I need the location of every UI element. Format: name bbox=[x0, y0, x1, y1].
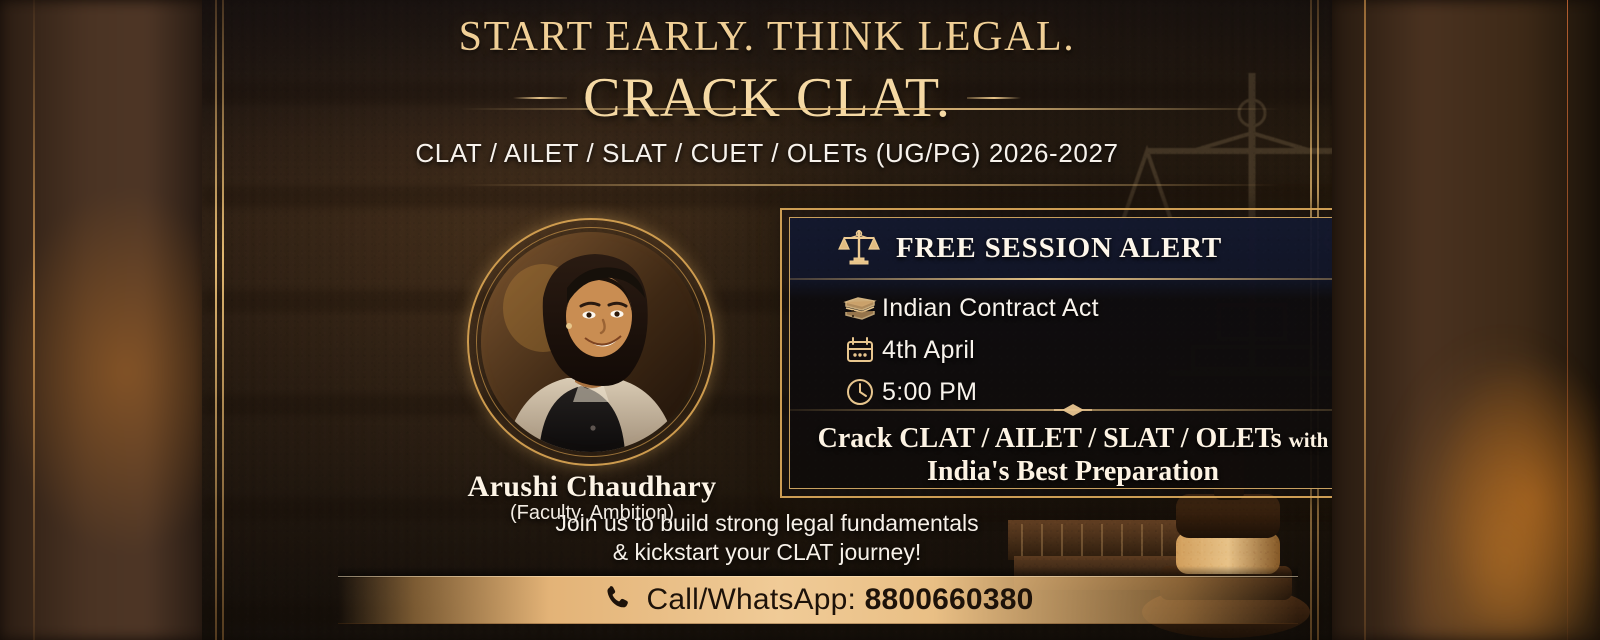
headline-dash-left bbox=[513, 97, 567, 99]
contact-label: Call/WhatsApp: bbox=[647, 583, 857, 616]
divider-below-subtitle bbox=[460, 184, 1280, 186]
headline-line-2: CRACK CLAT. bbox=[583, 70, 951, 126]
divider-above-subtitle bbox=[460, 108, 1280, 110]
scales-of-justice-icon bbox=[838, 227, 880, 270]
calendar-icon bbox=[838, 335, 882, 365]
alert-title: FREE SESSION ALERT bbox=[896, 232, 1222, 265]
right-warm-glow bbox=[1400, 330, 1600, 640]
session-detail-rows: Indian Contract Act bbox=[838, 288, 1099, 414]
promotional-banner: START EARLY. THINK LEGAL. CRACK CLAT. CL… bbox=[0, 0, 1600, 640]
diamond-divider-ornament-icon bbox=[1054, 403, 1092, 415]
detail-time-label: 5:00 PM bbox=[882, 378, 977, 407]
books-icon bbox=[838, 294, 882, 322]
join-copy-line-2: & kickstart your CLAT journey! bbox=[202, 539, 1332, 566]
contact-bar[interactable]: Call/WhatsApp: 8800660380 bbox=[338, 576, 1298, 624]
alert-header-row: FREE SESSION ALERT bbox=[790, 218, 1332, 278]
detail-row-date: 4th April bbox=[838, 330, 1099, 370]
detail-date-label: 4th April bbox=[882, 336, 975, 365]
tagline-line-1: Crack CLAT / AILET / SLAT / OLETs with bbox=[790, 423, 1332, 455]
free-session-info-box-inner: FREE SESSION ALERT bbox=[789, 217, 1332, 489]
faculty-name: Arushi Chaudhary bbox=[447, 470, 737, 504]
headline-dash-right bbox=[967, 97, 1021, 99]
left-background-extension bbox=[0, 0, 208, 640]
detail-row-subject: Indian Contract Act bbox=[838, 288, 1099, 328]
tagline-line-2: India's Best Preparation bbox=[790, 456, 1332, 488]
faculty-portrait-frame bbox=[467, 218, 715, 466]
portrait-ring-outer bbox=[467, 218, 715, 466]
join-copy-line-1: Join us to build strong legal fundamenta… bbox=[202, 510, 1332, 537]
tagline-main-suffix: with bbox=[1289, 428, 1329, 452]
exam-list-subtitle: CLAT / AILET / SLAT / CUET / OLETs (UG/P… bbox=[202, 138, 1332, 169]
headline-line-2-row: CRACK CLAT. bbox=[202, 70, 1332, 126]
contact-text: Call/WhatsApp: 8800660380 bbox=[647, 583, 1034, 617]
left-accent-line bbox=[33, 0, 35, 640]
detail-subject-label: Indian Contract Act bbox=[882, 294, 1099, 323]
right-accent-line-inner bbox=[1364, 0, 1366, 640]
phone-icon bbox=[603, 583, 633, 618]
banner-main-panel: START EARLY. THINK LEGAL. CRACK CLAT. CL… bbox=[202, 0, 1332, 640]
headline-line-1: START EARLY. THINK LEGAL. bbox=[202, 16, 1332, 58]
tagline-main-text: Crack CLAT / AILET / SLAT / OLETs bbox=[818, 423, 1282, 454]
free-session-info-box: FREE SESSION ALERT bbox=[780, 208, 1332, 498]
info-box-separator-top bbox=[790, 278, 1332, 280]
clock-icon bbox=[838, 376, 882, 408]
contact-number: 8800660380 bbox=[865, 583, 1034, 616]
